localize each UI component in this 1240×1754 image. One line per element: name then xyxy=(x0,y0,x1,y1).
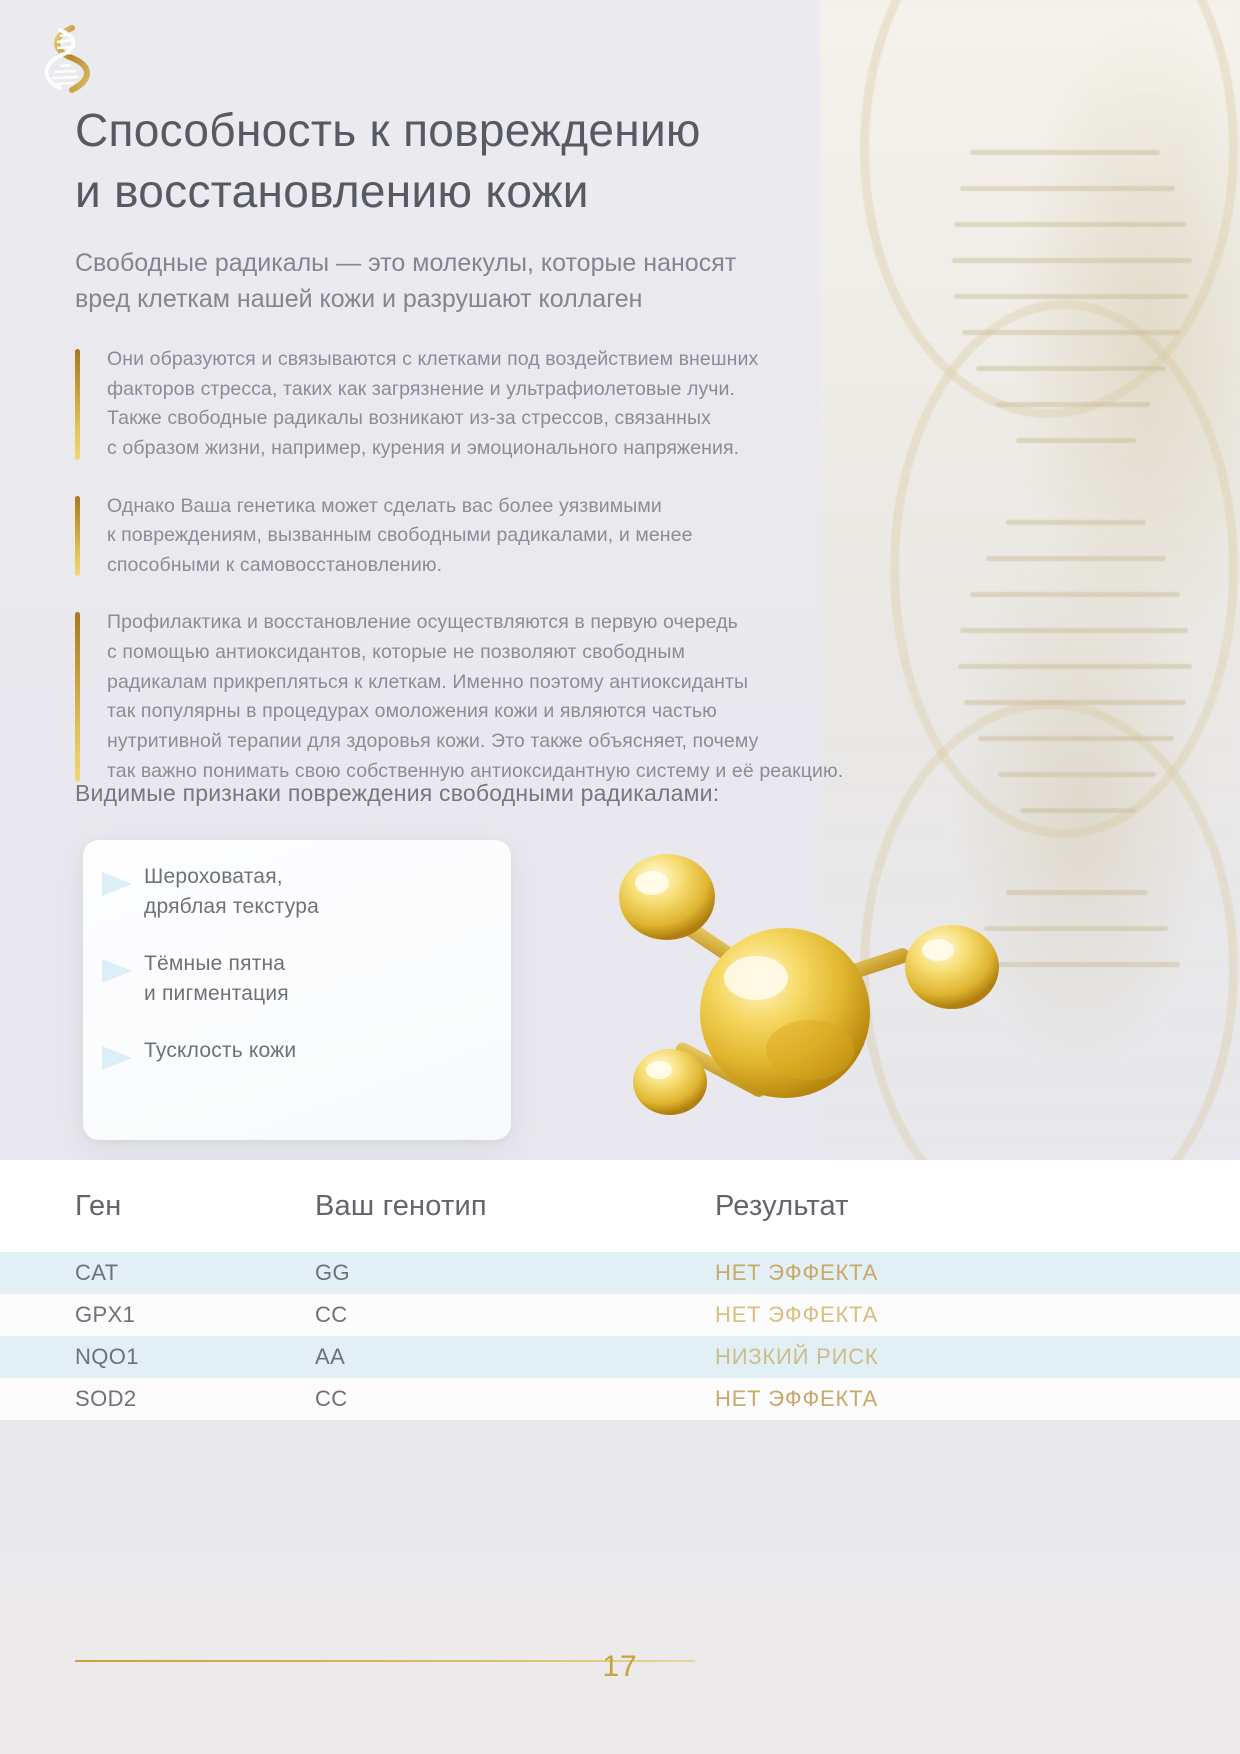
list-item: Тёмные пятна и пигментация xyxy=(100,949,500,1010)
table-row: NQO1 AA НИЗКИЙ РИСК xyxy=(0,1336,1240,1378)
cell-result: НИЗКИЙ РИСК xyxy=(715,1344,1240,1370)
cell-result: НЕТ ЭФФЕКТА xyxy=(715,1386,1240,1412)
cell-gene: CAT xyxy=(0,1260,315,1286)
list-item: Тусклость кожи xyxy=(100,1036,500,1072)
column-header-genotype: Ваш генотип xyxy=(315,1190,715,1223)
cell-genotype: GG xyxy=(315,1260,715,1286)
cell-genotype: CC xyxy=(315,1302,715,1328)
table-row: SOD2 CC НЕТ ЭФФЕКТА xyxy=(0,1378,1240,1420)
cell-result: НЕТ ЭФФЕКТА xyxy=(715,1260,1240,1286)
cell-genotype: CC xyxy=(315,1386,715,1412)
page-title: Способность к повреждению и восстановлен… xyxy=(75,100,955,221)
quote-text: Профилактика и восстановление осуществля… xyxy=(107,608,940,786)
table-header-row: Ген Ваш генотип Результат xyxy=(0,1160,1240,1252)
table-row: GPX1 CC НЕТ ЭФФЕКТА xyxy=(0,1294,1240,1336)
page-subtitle: Свободные радикалы — это молекулы, котор… xyxy=(75,245,955,318)
list-item-label: Шероховатая, дряблая текстура xyxy=(144,862,319,923)
genotype-table: Ген Ваш генотип Результат CAT GG НЕТ ЭФФ… xyxy=(0,1160,1240,1420)
dna-helix-icon xyxy=(38,22,94,96)
cell-gene: NQO1 xyxy=(0,1344,315,1370)
triangle-right-icon xyxy=(100,957,144,985)
list-item-label: Тусклость кожи xyxy=(144,1036,296,1066)
triangle-right-icon xyxy=(100,1044,144,1072)
gold-molecule-illustration xyxy=(560,835,1030,1155)
list-item-label: Тёмные пятна и пигментация xyxy=(144,949,289,1010)
quote-block: Профилактика и восстановление осуществля… xyxy=(75,608,940,786)
body-blocks: Они образуются и связываются с клетками … xyxy=(75,345,940,814)
list-item: Шероховатая, дряблая текстура xyxy=(100,862,500,923)
gold-accent-bar xyxy=(75,349,80,460)
column-header-result: Результат xyxy=(715,1190,1240,1223)
triangle-right-icon xyxy=(100,870,144,898)
page-number: 17 xyxy=(0,1650,1240,1684)
quote-text: Они образуются и связываются с клетками … xyxy=(107,345,940,464)
gold-accent-bar xyxy=(75,612,80,782)
quote-text: Однако Ваша генетика может сделать вас б… xyxy=(107,492,940,581)
cell-gene: SOD2 xyxy=(0,1386,315,1412)
visible-signs-heading: Видимые признаки повреждения свободными … xyxy=(75,780,975,807)
page-footer: 17 xyxy=(0,1589,1240,1754)
quote-block: Они образуются и связываются с клетками … xyxy=(75,345,940,464)
quote-block: Однако Ваша генетика может сделать вас б… xyxy=(75,492,940,581)
column-header-gene: Ген xyxy=(0,1190,315,1223)
cell-result: НЕТ ЭФФЕКТА xyxy=(715,1302,1240,1328)
cell-gene: GPX1 xyxy=(0,1302,315,1328)
cell-genotype: AA xyxy=(315,1344,715,1370)
gold-accent-bar xyxy=(75,496,80,577)
signs-list: Шероховатая, дряблая текстура Тёмные пят… xyxy=(100,862,500,1098)
table-row: CAT GG НЕТ ЭФФЕКТА xyxy=(0,1252,1240,1294)
